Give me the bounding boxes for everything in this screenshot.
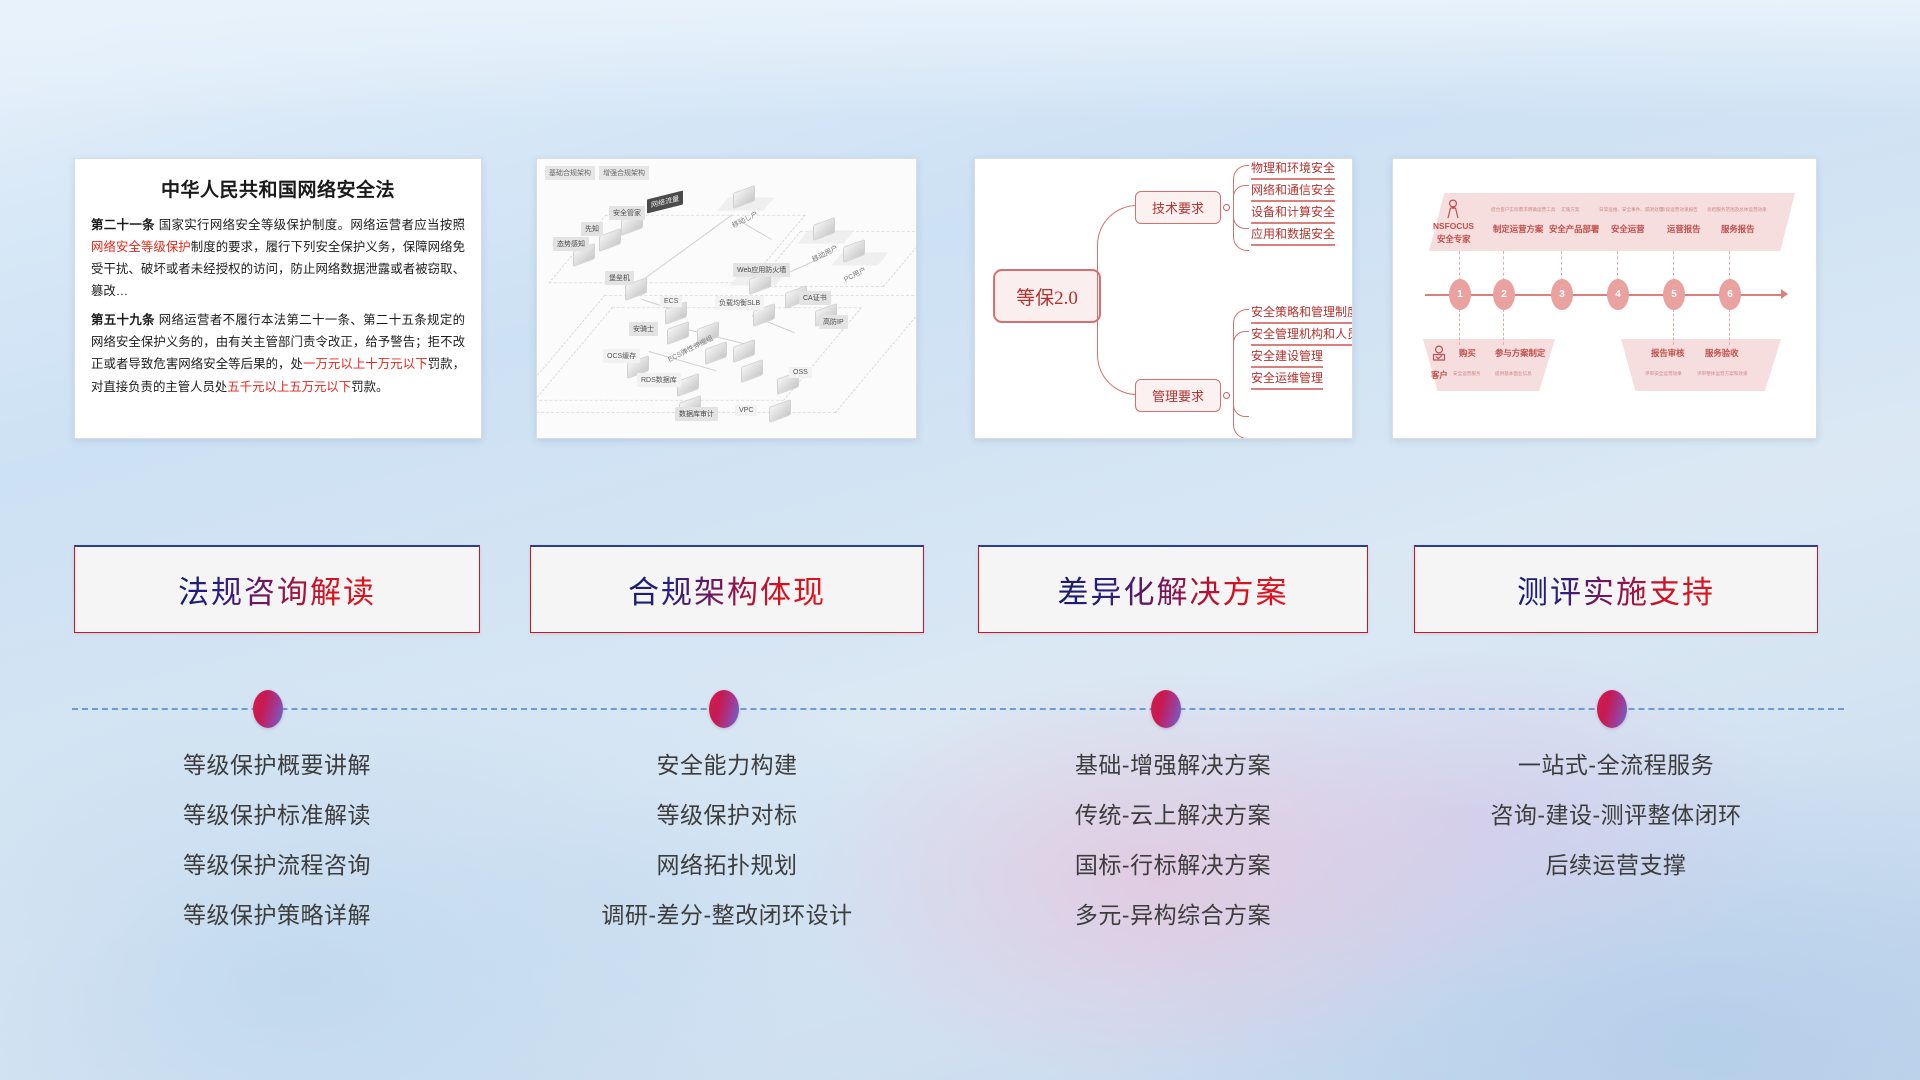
- service-timeline-arrow-icon: [1781, 289, 1788, 299]
- list-item: 一站式-全流程服务: [1414, 740, 1818, 790]
- provider-step-2-title: 安全产品部署: [1549, 223, 1599, 235]
- law-title: 中华人民共和国网络安全法: [91, 175, 465, 202]
- service-step-node-4[interactable]: 4: [1607, 279, 1629, 310]
- customer-step-2-sub: 提供基本面业信息: [1495, 371, 1532, 377]
- architecture-label-ca-cert: CA证书: [799, 291, 831, 305]
- mindmap-branch-management: 管理要求: [1135, 379, 1221, 412]
- timeline-dot-3[interactable]: [1151, 690, 1181, 728]
- service-step-node-5[interactable]: 5: [1663, 279, 1685, 310]
- service-connector-1-up: [1459, 251, 1460, 281]
- service-connector-5-down: [1673, 309, 1674, 345]
- provider-step-1-title: 制定运营方案: [1493, 223, 1543, 235]
- provider-step-5-title: 服务报告: [1721, 223, 1755, 235]
- customer-step-4-title: 服务验收: [1705, 347, 1739, 359]
- headline-label-2: 合规架构体现: [628, 567, 826, 612]
- provider-step-3-sub: 日常运维、安全事件、漏洞处理: [1599, 207, 1663, 213]
- provider-step-2-sub: 实施方案: [1561, 207, 1579, 213]
- service-connector-2-up: [1503, 251, 1504, 281]
- architecture-tab-basic[interactable]: 基础合规架构: [545, 166, 595, 180]
- provider-step-4-title: 运营报告: [1667, 223, 1701, 235]
- customer-step-2-title: 参与方案制定: [1495, 347, 1545, 359]
- architecture-diagram: 基础合规架构 增强合规架构: [537, 159, 916, 438]
- architecture-label-rds: RDS数据库: [637, 373, 681, 387]
- architecture-label-ecs: ECS: [660, 296, 682, 307]
- customer-step-1-title: 购买: [1459, 347, 1476, 359]
- architecture-label-anqishi: 安骑士: [629, 322, 658, 336]
- detail-list-column-1: 等级保护概要讲解 等级保护标准解读 等级保护流程咨询 等级保护策略详解: [74, 740, 480, 940]
- architecture-label-network-traffic: 网络流量: [647, 191, 683, 214]
- service-timeline-diagram: NSFOCUS 安全专家 客户 结合客户实际需求明确运营工具 制定运营方案 实施…: [1393, 159, 1816, 438]
- list-item: 等级保护概要讲解: [74, 740, 480, 790]
- timeline-dot-1[interactable]: [253, 690, 283, 728]
- law-article-59-text-end: 罚款。: [351, 380, 388, 394]
- mindmap-leaf-ops-mgmt: 安全运维管理: [1251, 369, 1323, 390]
- architecture-label-oss: OSS: [789, 367, 812, 378]
- law-article-21-highlight: 网络安全等级保护: [91, 240, 191, 254]
- provider-step-4-sub: 阶段运营效果报告: [1661, 207, 1698, 213]
- mindmap-leaf-org-personnel: 安全管理机构和人员: [1251, 325, 1353, 346]
- service-connector-6-down: [1729, 309, 1730, 345]
- architecture-label-security-butler: 安全管家: [609, 206, 645, 220]
- architecture-label-xianzhi: 先知: [581, 222, 603, 236]
- headline-label-4: 测评实施支持: [1517, 567, 1715, 612]
- mindmap-collapse-dot-management[interactable]: [1223, 392, 1230, 399]
- service-band-customer-right: [1621, 339, 1781, 391]
- architecture-label-situational-awareness: 态势感知: [553, 237, 589, 251]
- list-item: 国标-行标解决方案: [978, 840, 1368, 890]
- list-item: 等级保护策略详解: [74, 890, 480, 940]
- service-connector-5-up: [1673, 251, 1674, 281]
- list-item: 网络拓扑规划: [530, 840, 924, 890]
- list-item: 传统-云上解决方案: [978, 790, 1368, 840]
- architecture-tabs: 基础合规架构 增强合规架构: [545, 166, 649, 180]
- detail-list-column-4: 一站式-全流程服务 咨询-建设-测评整体闭环 后续运营支撑: [1414, 740, 1818, 890]
- customer-person-icon: [1431, 345, 1447, 365]
- service-connector-6-up: [1729, 251, 1730, 281]
- service-band-provider: [1429, 193, 1795, 251]
- slide-canvas: 中华人民共和国网络安全法 第二十一条 国家实行网络安全等级保护制度。网络运营者应…: [0, 0, 1920, 1080]
- headline-label-1: 法规咨询解读: [178, 567, 376, 612]
- service-step-node-3[interactable]: 3: [1551, 279, 1573, 310]
- timeline-connector: [0, 690, 1920, 730]
- headline-label-3: 差异化解决方案: [1058, 567, 1289, 612]
- law-article-59-label: 第五十九条: [91, 313, 155, 327]
- detail-list-column-2: 安全能力构建 等级保护对标 网络拓扑规划 调研-差分-整改闭环设计: [530, 740, 924, 940]
- service-connector-3-up: [1561, 251, 1562, 281]
- mindmap-leaf-network-comm: 网络和通信安全: [1251, 181, 1335, 202]
- provider-step-3-title: 安全运营: [1611, 223, 1645, 235]
- architecture-label-slb: 负载均衡SLB: [715, 296, 764, 310]
- list-item: 等级保护标准解读: [74, 790, 480, 840]
- preview-card-law[interactable]: 中华人民共和国网络安全法 第二十一条 国家实行网络安全等级保护制度。网络运营者应…: [74, 158, 482, 439]
- architecture-label-waf: Web应用防火墙: [733, 263, 790, 277]
- service-step-node-2[interactable]: 2: [1493, 279, 1515, 310]
- mindmap-curve-tech-4: [1233, 207, 1249, 251]
- architecture-label-antiddos-ip: 高防IP: [819, 315, 848, 329]
- preview-card-service-timeline[interactable]: NSFOCUS 安全专家 客户 结合客户实际需求明确运营工具 制定运营方案 实施…: [1392, 158, 1817, 439]
- mindmap-curve-mgmt-4: [1233, 395, 1249, 439]
- list-item: 多元-异构综合方案: [978, 890, 1368, 940]
- provider-actor-name-line2: 安全专家: [1437, 233, 1471, 245]
- customer-actor-name: 客户: [1431, 369, 1448, 381]
- preview-card-architecture[interactable]: 基础合规架构 增强合规架构: [536, 158, 917, 439]
- headline-box-differentiated-solution[interactable]: 差异化解决方案: [978, 545, 1368, 633]
- law-article-59-highlight-2: 五千元以上五万元以下: [227, 380, 351, 394]
- architecture-label-bastion: 堡垒机: [605, 271, 634, 285]
- provider-step-5-sub: 总结服务范围及总体运营效果: [1707, 207, 1767, 213]
- mindmap-leaf-policy-system: 安全策略和管理制度: [1251, 303, 1353, 324]
- preview-cards-row: 中华人民共和国网络安全法 第二十一条 国家实行网络安全等级保护制度。网络运营者应…: [0, 152, 1920, 442]
- customer-step-3-title: 报告审核: [1651, 347, 1685, 359]
- provider-person-icon: [1445, 199, 1461, 219]
- headline-box-compliance-architecture[interactable]: 合规架构体现: [530, 545, 924, 633]
- headline-box-regulation-consulting[interactable]: 法规咨询解读: [74, 545, 480, 633]
- mindmap-leaf-app-data: 应用和数据安全: [1251, 225, 1335, 246]
- architecture-tab-enhanced[interactable]: 增强合规架构: [599, 166, 649, 180]
- timeline-dashed-line: [72, 708, 1844, 710]
- law-article-59-highlight-1: 一万元以上十万元以下: [303, 357, 428, 371]
- service-step-node-1[interactable]: 1: [1449, 279, 1471, 310]
- mindmap-diagram: 等保2.0 技术要求 物理和环境安全 网络和通信安全 设备和计算安全 应用和数据…: [975, 159, 1352, 438]
- customer-step-1-sub: 安全运营服务: [1453, 371, 1481, 377]
- mindmap-curve-mgmt-2: [1233, 331, 1249, 397]
- list-item: 基础-增强解决方案: [978, 740, 1368, 790]
- architecture-label-vpc: VPC: [735, 405, 757, 416]
- detail-list-column-3: 基础-增强解决方案 传统-云上解决方案 国标-行标解决方案 多元-异构综合方案: [978, 740, 1368, 940]
- mindmap-leaf-build-mgmt: 安全建设管理: [1251, 347, 1323, 368]
- customer-step-4-sub: 评审整体运营方案和效果: [1697, 371, 1748, 377]
- headline-row: 法规咨询解读 合规架构体现 差异化解决方案 测评实施支持: [0, 545, 1920, 645]
- list-item: 等级保护对标: [530, 790, 924, 840]
- list-item: 调研-差分-整改闭环设计: [530, 890, 924, 940]
- timeline-dot-4[interactable]: [1597, 690, 1627, 728]
- law-article-21-label: 第二十一条: [91, 218, 155, 232]
- mindmap-leaf-physical-env: 物理和环境安全: [1251, 159, 1335, 180]
- service-step-node-6[interactable]: 6: [1719, 279, 1741, 310]
- architecture-label-ocs-cache: OCS缓存: [603, 349, 640, 363]
- law-article-21: 第二十一条 国家实行网络安全等级保护制度。网络运营者应当按照网络安全等级保护制度…: [91, 214, 465, 302]
- list-item: 安全能力构建: [530, 740, 924, 790]
- law-article-21-text-a: 国家实行网络安全等级保护制度。网络运营者应当按照: [155, 218, 465, 232]
- provider-actor-name-line1: NSFOCUS: [1433, 221, 1474, 231]
- customer-step-3-sub: 评审安全运营效果: [1645, 371, 1682, 377]
- preview-card-mindmap[interactable]: 等保2.0 技术要求 物理和环境安全 网络和通信安全 设备和计算安全 应用和数据…: [974, 158, 1353, 439]
- service-connector-4-up: [1617, 251, 1618, 281]
- service-connector-1-down: [1459, 309, 1460, 345]
- headline-box-assessment-support[interactable]: 测评实施支持: [1414, 545, 1818, 633]
- service-connector-2-down: [1503, 309, 1504, 345]
- architecture-label-db-audit: 数据库审计: [675, 407, 718, 421]
- provider-step-1-sub: 结合客户实际需求明确运营工具: [1491, 207, 1555, 213]
- list-item: 等级保护流程咨询: [74, 840, 480, 890]
- mindmap-leaf-device-compute: 设备和计算安全: [1251, 203, 1335, 224]
- mindmap-collapse-dot-technical[interactable]: [1223, 204, 1230, 211]
- timeline-dot-2[interactable]: [709, 690, 739, 728]
- detail-lists-row: 等级保护概要讲解 等级保护标准解读 等级保护流程咨询 等级保护策略详解 安全能力…: [0, 740, 1920, 970]
- list-item: 后续运营支撑: [1414, 840, 1818, 890]
- mindmap-root-node: 等保2.0: [993, 269, 1101, 323]
- law-article-59: 第五十九条 网络运营者不履行本法第二十一条、第二十五条规定的网络安全保护义务的，…: [91, 309, 465, 397]
- mindmap-branch-technical: 技术要求: [1135, 191, 1221, 224]
- list-item: 咨询-建设-测评整体闭环: [1414, 790, 1818, 840]
